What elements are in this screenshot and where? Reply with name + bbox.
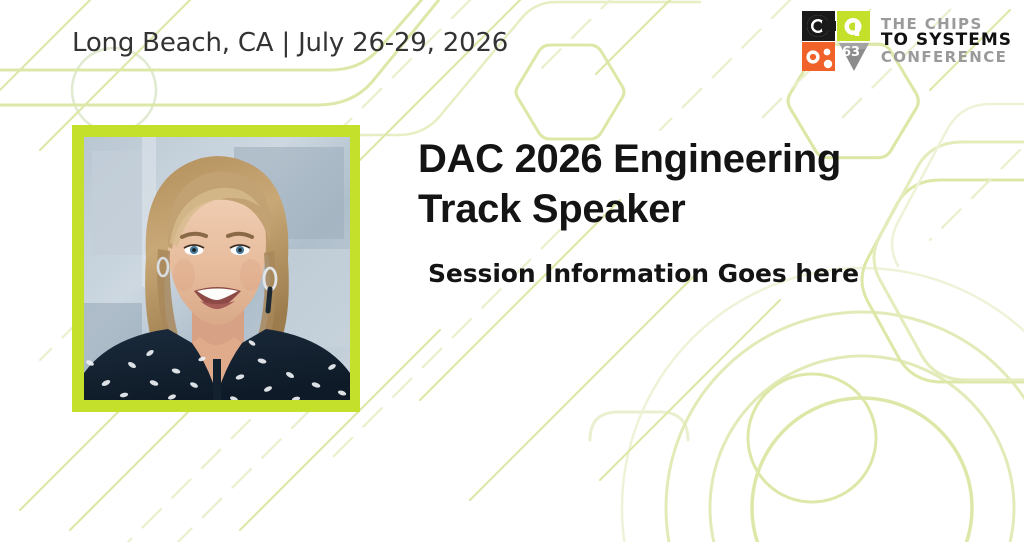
speaker-photo: [84, 137, 350, 400]
event-date-location: Long Beach, CA | July 26-29, 2026: [72, 28, 508, 58]
page-title: DAC 2026 Engineering Track Speaker: [418, 134, 918, 235]
logo-tagline-line3: CONFERENCE: [881, 50, 1012, 66]
dac-conference-logo: 63 THE CHIPS TO SYSTEMS CONFERENCE: [801, 10, 1012, 72]
dac-speaker-banner: Long Beach, CA | July 26-29, 2026 63: [0, 0, 1024, 542]
headline-line-1: DAC 2026 Engineering: [418, 134, 918, 184]
headline-line-2: Track Speaker: [418, 184, 918, 234]
speaker-photo-frame: [72, 125, 360, 412]
svg-text:63: 63: [842, 45, 860, 60]
session-information-subtitle: Session Information Goes here: [428, 259, 859, 288]
speaker-portrait-image: [84, 137, 350, 400]
dac-logo-mark-icon: 63: [801, 10, 875, 72]
logo-tagline: THE CHIPS TO SYSTEMS CONFERENCE: [881, 17, 1012, 66]
